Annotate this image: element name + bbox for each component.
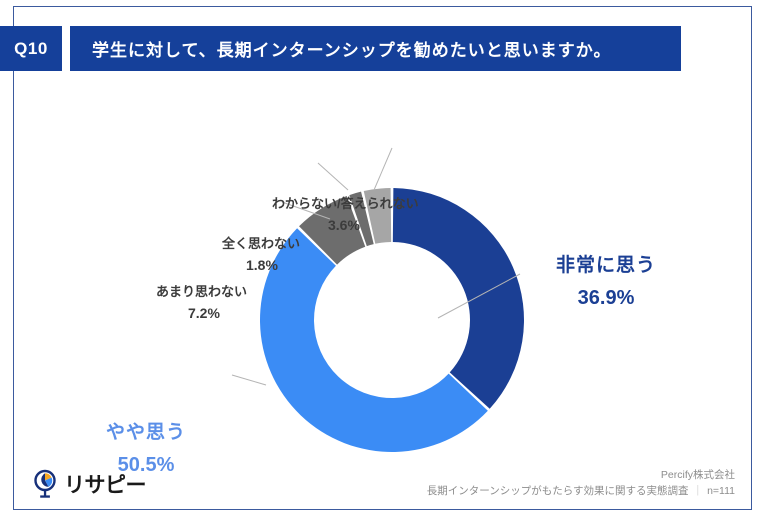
footer-survey-line: 長期インターンシップがもたらす効果に関する実態調査｜n=111 bbox=[427, 484, 735, 500]
callout-wakaranai: わからない/答えられない 3.6% bbox=[272, 195, 419, 234]
question-number-badge: Q10 bbox=[0, 26, 62, 71]
callout-amari: あまり思わない 7.2% bbox=[156, 283, 247, 322]
question-title-bar: 学生に対して、長期インターンシップを勧めたいと思いますか。 bbox=[70, 26, 681, 71]
callout-amari-label: あまり思わない bbox=[156, 283, 247, 301]
brand-logo: リサピー bbox=[32, 469, 146, 499]
question-title-text: 学生に対して、長期インターンシップを勧めたいと思いますか。 bbox=[70, 36, 611, 61]
callout-wakaranai-value: 3.6% bbox=[272, 216, 419, 235]
footer-sample-size: n=111 bbox=[707, 485, 735, 497]
callout-wakaranai-label: わからない/答えられない bbox=[272, 195, 419, 213]
callout-hijou-value: 36.9% bbox=[556, 285, 656, 312]
donut-chart: わからない/答えられない 3.6% 全く思わない 1.8% あまり思わない 7.… bbox=[0, 90, 768, 465]
callout-mattaku: 全く思わない 1.8% bbox=[222, 235, 300, 274]
callout-mattaku-value: 1.8% bbox=[222, 256, 300, 275]
magnifier-pie-chart-icon bbox=[32, 469, 58, 499]
leader-line-wakaranai bbox=[374, 148, 392, 190]
question-number-label: Q10 bbox=[14, 39, 48, 59]
brand-logo-text: リサピー bbox=[64, 469, 146, 499]
callout-amari-value: 7.2% bbox=[156, 304, 247, 323]
leader-line-yaya bbox=[232, 375, 266, 385]
footer: リサピー Percify株式会社 長期インターンシップがもたらす効果に関する実態… bbox=[14, 460, 751, 508]
callout-yaya-label: やや思う bbox=[106, 420, 186, 446]
footer-survey-name: 長期インターンシップがもたらす効果に関する実態調査 bbox=[427, 485, 689, 497]
footer-company: Percify株式会社 bbox=[427, 468, 735, 484]
callout-hijou-label: 非常に思う bbox=[556, 253, 656, 279]
footer-separator: ｜ bbox=[689, 485, 708, 497]
footer-credit: Percify株式会社 長期インターンシップがもたらす効果に関する実態調査｜n=… bbox=[427, 468, 735, 500]
callout-mattaku-label: 全く思わない bbox=[222, 235, 300, 253]
callout-hijou-ni-omou: 非常に思う 36.9% bbox=[556, 253, 656, 312]
leader-line-mattaku bbox=[318, 163, 348, 190]
